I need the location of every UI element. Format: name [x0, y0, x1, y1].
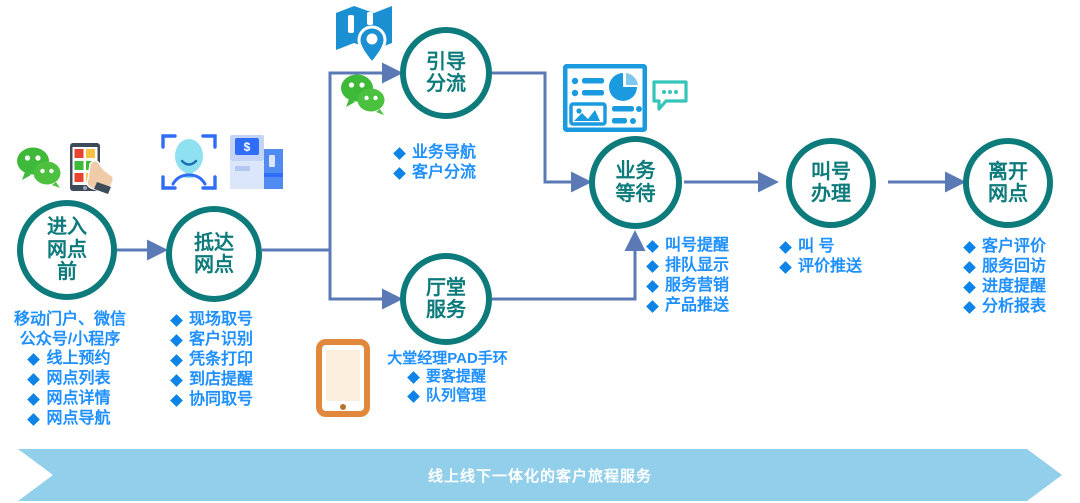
list-item[interactable]: 业务导航 [395, 143, 476, 163]
atm-kiosk-icon: $ [226, 133, 286, 193]
node-line: 网点 [47, 239, 87, 261]
list-guide-divert: 业务导航 客户分流 [395, 143, 476, 183]
list-item[interactable]: 客户评价 [965, 237, 1046, 257]
diamond-bullet-icon [28, 413, 41, 426]
list-item[interactable]: 客户分流 [395, 163, 476, 183]
diamond-bullet-icon [28, 373, 41, 386]
diamond-bullet-icon [779, 261, 792, 274]
list-business-wait: 叫号提醒 排队显示 服务营销 产品推送 [648, 236, 729, 316]
dashboard-icon [563, 64, 647, 132]
list-item[interactable]: 叫号提醒 [648, 236, 729, 256]
node-line: 服务 [426, 299, 466, 321]
diamond-bullet-icon [28, 393, 41, 406]
diamond-bullet-icon [963, 261, 976, 274]
node-call-handle[interactable]: 叫号 办理 [786, 138, 876, 228]
node-line: 网点 [194, 254, 234, 276]
diamond-bullet-icon [407, 371, 420, 384]
list-item[interactable]: 叫 号 [781, 237, 862, 257]
wechat-icon-2 [340, 73, 388, 115]
diamond-bullet-icon [407, 390, 420, 403]
list-item[interactable]: 要客提醒 [375, 368, 520, 387]
map-pin-icon [334, 3, 396, 65]
list-item[interactable]: 网点列表 [0, 369, 140, 389]
diamond-bullet-icon [393, 147, 406, 160]
diamond-bullet-icon [170, 314, 183, 327]
diamond-bullet-icon [170, 394, 183, 407]
list-item[interactable]: 队列管理 [375, 387, 520, 406]
face-scan-icon [160, 131, 218, 193]
list-item[interactable]: 网点导航 [0, 409, 140, 429]
list-item[interactable]: 产品推送 [648, 296, 729, 316]
summary-banner: 线上线下一体化的客户旅程服务 [18, 449, 1062, 501]
diamond-bullet-icon [170, 354, 183, 367]
wechat-icon [16, 146, 64, 188]
diamond-bullet-icon [779, 241, 792, 254]
list-call-handle: 叫 号 评价推送 [781, 237, 862, 277]
node-line: 进入 [47, 216, 87, 238]
mobile-tap-icon [66, 142, 114, 194]
diamond-bullet-icon [646, 240, 659, 253]
list-arrive-branch: 现场取号 客户识别 凭条打印 到店提醒 协同取号 [172, 310, 253, 410]
diamond-bullet-icon [963, 241, 976, 254]
list-before-branch: 移动门户、微信 公众号/小程序 线上预约 网点列表 网点详情 网点导航 [0, 310, 140, 429]
node-arrive-branch[interactable]: 抵达 网点 [166, 206, 262, 302]
list-header: 公众号/小程序 [0, 330, 140, 350]
list-item[interactable]: 进度提醒 [965, 277, 1046, 297]
list-item[interactable]: 客户识别 [172, 330, 253, 350]
list-item[interactable]: 到店提醒 [172, 370, 253, 390]
node-line: 业务 [616, 160, 656, 182]
list-item[interactable]: 排队显示 [648, 256, 729, 276]
diamond-bullet-icon [963, 281, 976, 294]
list-item[interactable]: 分析报表 [965, 297, 1046, 317]
list-header: 移动门户、微信 [0, 310, 140, 330]
node-line: 前 [57, 261, 77, 283]
list-item[interactable]: 凭条打印 [172, 350, 253, 370]
diamond-bullet-icon [170, 334, 183, 347]
node-line: 分流 [426, 73, 466, 95]
diamond-bullet-icon [646, 280, 659, 293]
list-item[interactable]: 服务营销 [648, 276, 729, 296]
list-item[interactable]: 线上预约 [0, 349, 140, 369]
list-item[interactable]: 现场取号 [172, 310, 253, 330]
tablet-pad-icon [316, 339, 370, 417]
node-line: 等待 [616, 183, 656, 205]
list-item[interactable]: 评价推送 [781, 257, 862, 277]
connector-lines [0, 0, 1080, 503]
node-line: 办理 [811, 183, 851, 205]
list-leave-branch: 客户评价 服务回访 进度提醒 分析报表 [965, 237, 1046, 317]
list-item[interactable]: 网点详情 [0, 389, 140, 409]
node-line: 网点 [988, 183, 1028, 205]
node-hall-service[interactable]: 厅堂 服务 [400, 253, 492, 345]
node-business-wait[interactable]: 业务 等待 [589, 136, 682, 229]
diamond-bullet-icon [963, 301, 976, 314]
list-item[interactable]: 协同取号 [172, 390, 253, 410]
chat-bubble-icon [652, 80, 688, 112]
diamond-bullet-icon [28, 353, 41, 366]
node-leave-branch[interactable]: 离开 网点 [963, 138, 1053, 228]
process-flow-diagram: $ [0, 0, 1080, 503]
diamond-bullet-icon [646, 260, 659, 273]
node-line: 离开 [988, 161, 1028, 183]
list-hall-service: 大堂经理PAD手环 要客提醒 队列管理 [375, 350, 520, 406]
svg-text:$: $ [244, 140, 251, 154]
summary-banner-text: 线上线下一体化的客户旅程服务 [428, 465, 652, 486]
list-item[interactable]: 服务回访 [965, 257, 1046, 277]
diamond-bullet-icon [393, 167, 406, 180]
node-line: 抵达 [194, 232, 234, 254]
node-guide-divert[interactable]: 引导 分流 [400, 27, 492, 119]
diamond-bullet-icon [170, 374, 183, 387]
diamond-bullet-icon [646, 300, 659, 313]
node-line: 引导 [426, 51, 466, 73]
list-header: 大堂经理PAD手环 [375, 350, 520, 368]
node-line: 厅堂 [426, 277, 466, 299]
node-line: 叫号 [811, 161, 851, 183]
node-before-branch[interactable]: 进入 网点 前 [17, 200, 117, 300]
